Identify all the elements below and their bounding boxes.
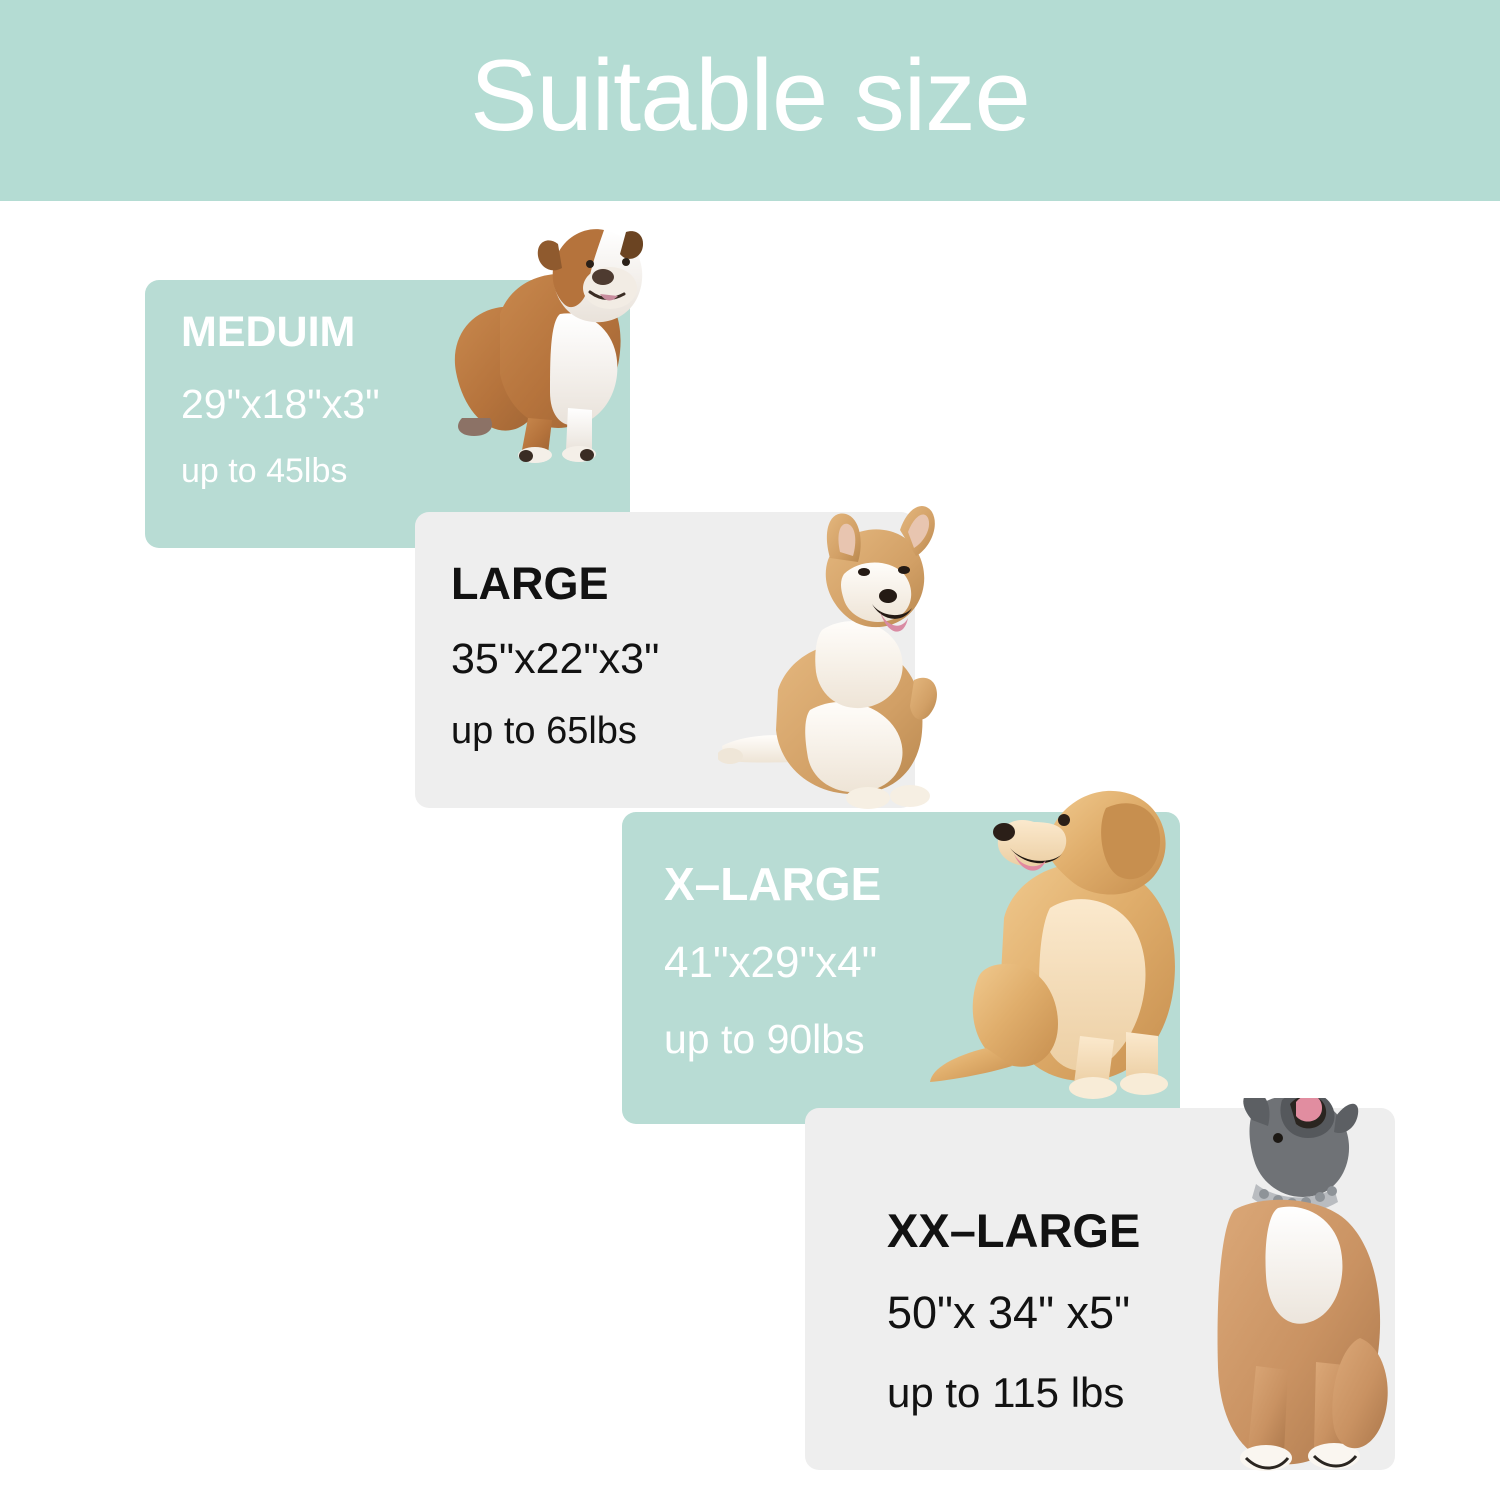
size-card-xxlarge[interactable]: XX–LARGE 50"x 34" x5" up to 115 lbs xyxy=(805,1108,1395,1470)
page-title: Suitable size xyxy=(470,46,1030,147)
size-card-medium-weight: up to 45lbs xyxy=(181,454,380,490)
size-card-large-name: LARGE xyxy=(451,560,659,607)
header-banner: Suitable size xyxy=(0,0,1500,201)
size-card-large-text: LARGE 35"x22"x3" up to 65lbs xyxy=(451,560,659,752)
size-card-xlarge-text: X–LARGE 41"x29"x4" up to 90lbs xyxy=(664,860,881,1062)
size-card-xxlarge-weight: up to 115 lbs xyxy=(887,1371,1140,1415)
size-card-medium[interactable]: MEDUIM 29"x18"x3" up to 45lbs xyxy=(145,280,630,548)
size-card-xlarge-dimensions: 41"x29"x4" xyxy=(664,940,881,986)
size-card-large-dimensions: 35"x22"x3" xyxy=(451,637,659,682)
size-card-large-weight: up to 65lbs xyxy=(451,712,659,752)
size-card-large[interactable]: LARGE 35"x22"x3" up to 65lbs xyxy=(415,512,915,808)
size-card-xlarge[interactable]: X–LARGE 41"x29"x4" up to 90lbs xyxy=(622,812,1180,1124)
size-card-xxlarge-name: XX–LARGE xyxy=(887,1206,1140,1255)
size-card-xlarge-name: X–LARGE xyxy=(664,860,881,908)
size-card-xlarge-weight: up to 90lbs xyxy=(664,1018,881,1061)
size-card-xxlarge-dimensions: 50"x 34" x5" xyxy=(887,1289,1140,1336)
size-card-medium-name: MEDUIM xyxy=(181,310,380,355)
size-card-medium-text: MEDUIM 29"x18"x3" up to 45lbs xyxy=(181,310,380,490)
size-card-xxlarge-text: XX–LARGE 50"x 34" x5" up to 115 lbs xyxy=(887,1206,1140,1415)
size-card-medium-dimensions: 29"x18"x3" xyxy=(181,383,380,426)
